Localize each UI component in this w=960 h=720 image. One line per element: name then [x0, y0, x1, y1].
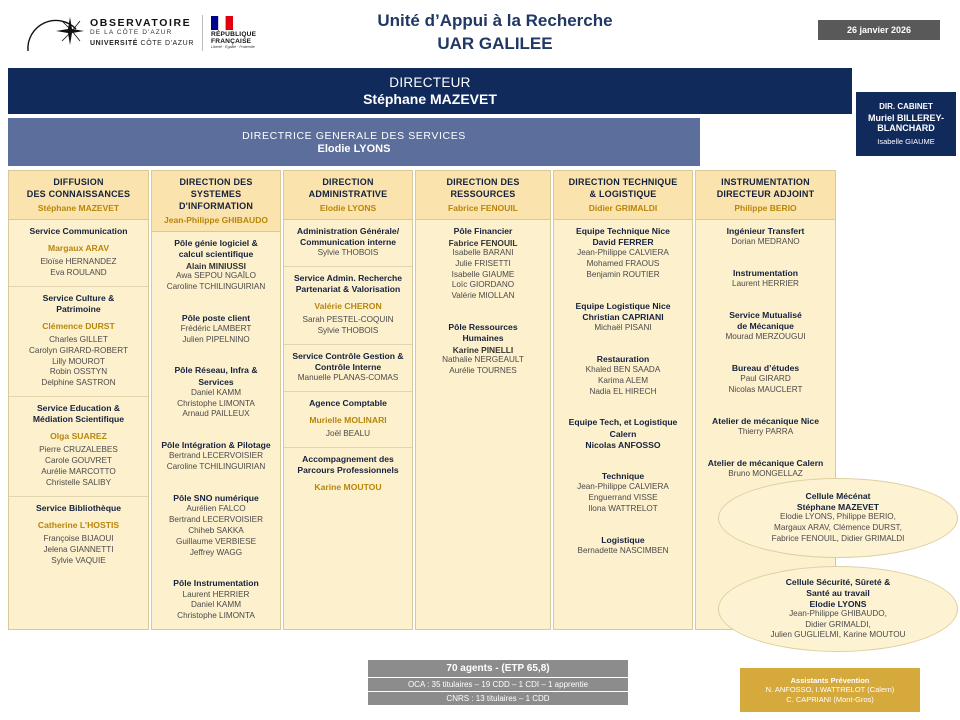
member-name: Charles GILLET — [12, 335, 145, 346]
group-spacer — [152, 427, 280, 434]
title-line: & LOGISTIQUE — [557, 189, 689, 201]
group-title-line: Equipe Technique Nice — [557, 226, 689, 237]
member-name: Enguerrand VISSE — [557, 493, 689, 504]
org-column-4: DIRECTION DESRESSOURCESFabrice FENOUILPô… — [415, 170, 551, 630]
service-group: Equipe Logistique NiceChristian CAPRIANI… — [554, 295, 692, 341]
service-group: Service Contrôle Gestion &Contrôle Inter… — [284, 345, 412, 392]
group-members: Daniel KAMMChristophe LIMONTAArnaud PAIL… — [155, 388, 277, 420]
service-group: Service BibliothèqueCatherine L’HOSTISFr… — [9, 497, 148, 574]
group-members: Dorian MEDRANO — [699, 237, 832, 248]
column-header: INSTRUMENTATIONDIRECTEUR ADJOINTPhilippe… — [696, 171, 835, 220]
page-title: Unité d’Appui à la Recherche UAR GALILEE — [330, 10, 660, 56]
group-members: Paul GIRARDNicolas MAUCLERT — [699, 374, 832, 396]
column-lead: Fabrice FENOUIL — [419, 203, 547, 213]
group-members: Nathalie NERGEAULTAurélie TOURNES — [419, 355, 547, 377]
column-lead: Elodie LYONS — [287, 203, 409, 213]
group-lead: Karine MOUTOU — [287, 482, 409, 492]
member-name: Christophe LIMONTA — [155, 611, 277, 622]
group-lead: Clémence DURST — [12, 321, 145, 331]
group-title: Equipe Logistique NiceChristian CAPRIANI — [557, 301, 689, 323]
group-lead: Margaux ARAV — [12, 243, 145, 253]
group-title-line: Equipe Logistique Nice — [557, 301, 689, 312]
org-column-2: DIRECTION DESSYSTEMESD'INFORMATIONJean-P… — [151, 170, 281, 630]
column-title: DIRECTION TECHNIQUE& LOGISTIQUE — [557, 177, 689, 201]
member-name: Sylvie VAQUIE — [12, 556, 145, 567]
cell-members: Elodie LYONS, Philippe BERIO,Margaux ARA… — [772, 512, 905, 545]
group-title-line: de Mécanique — [699, 321, 832, 332]
column-header: DIRECTIONADMINISTRATIVEElodie LYONS — [284, 171, 412, 220]
group-members: Bertrand LECERVOISIERCaroline TCHILINGUI… — [155, 451, 277, 473]
group-title-line: Equipe Tech, et Logistique — [557, 417, 689, 428]
column-header: DIRECTION TECHNIQUE& LOGISTIQUEDidier GR… — [554, 171, 692, 220]
group-title: Accompagnement desParcours Professionnel… — [287, 454, 409, 476]
member-name: Jean-Philippe CALVIERA — [557, 248, 689, 259]
column-title: DIFFUSIONDES CONNAISSANCES — [12, 177, 145, 201]
group-spacer — [152, 300, 280, 307]
cabinet-member: Isabelle GIAUME — [877, 137, 935, 146]
group-title-line: Restauration — [557, 354, 689, 365]
member-name: Christophe LIMONTA — [155, 399, 277, 410]
cell-lead: Stéphane MAZEVET — [797, 502, 879, 512]
group-title: Administration Générale/Communication in… — [287, 226, 409, 248]
service-group: InstrumentationLaurent HERRIER — [696, 262, 835, 297]
member-name: Frédéric LAMBERT — [155, 324, 277, 335]
member-name: Pierre CRUZALEBES — [12, 445, 145, 456]
group-title: Service Admin. RecherchePartenariat & Va… — [287, 273, 409, 295]
group-members: Françoise BIJAOUIJelena GIANNETTISylvie … — [12, 534, 145, 566]
group-title: Service Communication — [12, 226, 145, 237]
title-line: SYSTEMES — [155, 189, 277, 201]
group-title-line: Service Admin. Recherche — [287, 273, 409, 284]
cabinet-name: Muriel BILLEREY-BLANCHARD — [856, 113, 956, 135]
group-title-line: David FERRER — [557, 237, 689, 248]
group-members: Frédéric LAMBERTJulien PIPELNINO — [155, 324, 277, 346]
group-lead: Fabrice FENOUIL — [419, 238, 547, 248]
group-spacer — [152, 352, 280, 359]
service-group: Pôle SNO numériqueAurélien FALCOBertrand… — [152, 487, 280, 565]
column-header: DIRECTION DESSYSTEMESD'INFORMATIONJean-P… — [152, 171, 280, 232]
group-title-line: Service Communication — [12, 226, 145, 237]
group-title-line: Médiation Scientifique — [12, 414, 145, 425]
group-title-line: Pôle Instrumentation — [155, 578, 277, 589]
group-title-line: Agence Comptable — [287, 398, 409, 409]
org-column-3: DIRECTIONADMINISTRATIVEElodie LYONSAdmin… — [283, 170, 413, 630]
group-title-line: calcul scientifique — [155, 249, 277, 260]
republique-francaise-logo: RÉPUBLIQUE FRANÇAISE Liberté · Égalité ·… — [211, 16, 256, 50]
group-title-line: Parcours Professionnels — [287, 465, 409, 476]
dgs-name: Elodie LYONS — [318, 143, 391, 155]
group-members: Michaël PISANI — [557, 323, 689, 334]
title-line: ADMINISTRATIVE — [287, 189, 409, 201]
oca-breakdown: OCA : 35 titulaires – 19 CDD – 1 CDI – 1… — [368, 677, 628, 691]
group-members: Pierre CRUZALEBESCarole GOUVRETAurélie M… — [12, 445, 145, 488]
group-title-line: Nicolas ANFOSSO — [557, 440, 689, 451]
group-title-line: Communication interne — [287, 237, 409, 248]
member-name: Sylvie THOBOIS — [287, 248, 409, 259]
dgs-role: DIRECTRICE GENERALE DES SERVICES — [242, 130, 466, 142]
member-name: Valérie MIOLLAN — [419, 291, 547, 302]
prevention-title: Assistants Prévention — [791, 676, 870, 685]
member-name: Michaël PISANI — [557, 323, 689, 334]
logo-subtitle: DE LA CÔTE D'AZUR — [90, 30, 194, 37]
member-name: Nathalie NERGEAULT — [419, 355, 547, 366]
member-line: Margaux ARAV, Clémence DURST, — [772, 523, 905, 534]
group-lead: Olga SUAREZ — [12, 431, 145, 441]
column-title: DIRECTION DESSYSTEMESD'INFORMATION — [155, 177, 277, 213]
group-title-line: Service Culture & — [12, 293, 145, 304]
group-title: Service Bibliothèque — [12, 503, 145, 514]
member-name: Isabelle BARANI — [419, 248, 547, 259]
prevention-line-1: N. ANFOSSO, I.WATTRELOT (Calern) — [766, 685, 895, 694]
column-title: DIRECTION DESRESSOURCES — [419, 177, 547, 201]
logo-wordmark: OBSERVATOIRE DE LA CÔTE D'AZUR UNIVERSIT… — [90, 18, 194, 47]
member-line: Jean-Philippe GHIBAUDO, — [771, 609, 906, 620]
group-title: Atelier de mécanique Calern — [699, 458, 832, 469]
group-title: Instrumentation — [699, 268, 832, 279]
group-title-line: Patrimoine — [12, 304, 145, 315]
group-title-line: Humaines — [419, 333, 547, 344]
service-group: Atelier de mécanique NiceThierry PARRA — [696, 410, 835, 445]
member-name: Julie FRISETTI — [419, 259, 547, 270]
title-line: DIRECTION TECHNIQUE — [557, 177, 689, 189]
group-title: Bureau d’études — [699, 363, 832, 374]
member-name: Aurélie MARCOTTO — [12, 467, 145, 478]
logo-divider — [202, 15, 203, 51]
member-name: Delphine SASTRON — [12, 378, 145, 389]
group-title: Equipe Technique NiceDavid FERRER — [557, 226, 689, 248]
member-name: Thierry PARRA — [699, 427, 832, 438]
service-group: Bureau d’étudesPaul GIRARDNicolas MAUCLE… — [696, 357, 835, 403]
group-title-line: Logistique — [557, 535, 689, 546]
group-title: Agence Comptable — [287, 398, 409, 409]
prevention-line-2: C. CAPRIANI (Mont-Gros) — [786, 695, 874, 704]
group-title: Service Education &Médiation Scientifiqu… — [12, 403, 145, 425]
member-name: Benjamin ROUTIER — [557, 270, 689, 281]
member-line: Fabrice FENOUIL, Didier GRIMALDI — [772, 534, 905, 545]
member-name: Christelle SALIBY — [12, 478, 145, 489]
group-lead: Alain MINIUSSI — [155, 261, 277, 271]
member-name: Carole GOUVRET — [12, 456, 145, 467]
cnrs-breakdown: CNRS : 13 titulaires – 1 CDD — [368, 691, 628, 705]
title-line: DIRECTION DES — [419, 177, 547, 189]
prevention-assistants-box: Assistants Prévention N. ANFOSSO, I.WATT… — [740, 668, 920, 712]
member-name: Laurent HERRIER — [699, 279, 832, 290]
group-members: Jean-Philippe CALVIERAMohamed FRAOUSBenj… — [557, 248, 689, 280]
title-line: RESSOURCES — [419, 189, 547, 201]
column-lead: Stéphane MAZEVET — [12, 203, 145, 213]
group-spacer — [152, 565, 280, 572]
member-name: Manuelle PLANAS-COMAS — [287, 373, 409, 384]
group-spacer — [554, 404, 692, 411]
group-title-line: Pôle SNO numérique — [155, 493, 277, 504]
group-spacer — [554, 341, 692, 348]
column-lead: Didier GRIMALDI — [557, 203, 689, 213]
cell-title-line: Santé au travail — [786, 588, 891, 599]
title-line: DIRECTEUR ADJOINT — [699, 189, 832, 201]
service-group: Agence ComptableMurielle MOLINARIJoël BE… — [284, 392, 412, 448]
logo-observatoire: OBSERVATOIRE — [90, 18, 194, 29]
member-name: Eloïse HERNANDEZ — [12, 257, 145, 268]
cabinet-director-box: DIR. CABINET Muriel BILLEREY-BLANCHARD I… — [856, 92, 956, 156]
service-group: Service Mutualiséde MécaniqueMourad MERZ… — [696, 304, 835, 350]
group-title-line: Pôle poste client — [155, 313, 277, 324]
service-group: Service Education &Médiation Scientifiqu… — [9, 397, 148, 497]
group-title-line: Service Contrôle Gestion & — [287, 351, 409, 362]
member-name: Aurélien FALCO — [155, 504, 277, 515]
column-title: INSTRUMENTATIONDIRECTEUR ADJOINT — [699, 177, 832, 201]
member-name: Jean-Philippe CALVIERA — [557, 482, 689, 493]
group-title: Pôle Réseau, Infra &Services — [155, 365, 277, 387]
group-spacer — [696, 350, 835, 357]
group-spacer — [416, 309, 550, 316]
group-title-line: Christian CAPRIANI — [557, 312, 689, 323]
member-name: Paul GIRARD — [699, 374, 832, 385]
group-title-line: Contrôle Interne — [287, 362, 409, 373]
group-title: Pôle SNO numérique — [155, 493, 277, 504]
member-name: Françoise BIJAOUI — [12, 534, 145, 545]
member-name: Joël BEALU — [287, 429, 409, 440]
date-badge: 26 janvier 2026 — [818, 20, 940, 40]
group-title-line: Pôle Ressources — [419, 322, 547, 333]
group-members: Bernadette NASCIMBEN — [557, 546, 689, 557]
service-group: Administration Générale/Communication in… — [284, 220, 412, 267]
cell-title: Cellule Sécurité, Sûreté &Santé au trava… — [786, 577, 891, 599]
agents-total: 70 agents - (ETP 65,8) — [368, 660, 628, 677]
group-title-line: Pôle Financier — [419, 226, 547, 237]
group-spacer — [696, 403, 835, 410]
group-title: Restauration — [557, 354, 689, 365]
cell-members: Jean-Philippe GHIBAUDO,Didier GRIMALDI,J… — [771, 609, 906, 642]
title-line: DIRECTION — [287, 177, 409, 189]
member-name: Jelena GIANNETTI — [12, 545, 145, 556]
member-name: Daniel KAMM — [155, 600, 277, 611]
org-column-5: DIRECTION TECHNIQUE& LOGISTIQUEDidier GR… — [553, 170, 693, 630]
cell-title-line: Cellule Sécurité, Sûreté & — [786, 577, 891, 588]
member-name: Aurélie TOURNES — [419, 366, 547, 377]
group-members: Eloïse HERNANDEZEva ROULAND — [12, 257, 145, 279]
group-title: Pôle Instrumentation — [155, 578, 277, 589]
org-column-1: DIFFUSIONDES CONNAISSANCESStéphane MAZEV… — [8, 170, 149, 630]
column-title: DIRECTIONADMINISTRATIVE — [287, 177, 409, 201]
group-title: Pôle Financier — [419, 226, 547, 237]
group-spacer — [696, 297, 835, 304]
title-line: DIFFUSION — [12, 177, 145, 189]
title-line: D'INFORMATION — [155, 201, 277, 213]
service-group: Pôle InstrumentationLaurent HERRIERDanie… — [152, 572, 280, 629]
service-group: TechniqueJean-Philippe CALVIERAEnguerran… — [554, 465, 692, 522]
group-title-line: Accompagnement des — [287, 454, 409, 465]
group-title: Equipe Tech, et LogistiqueCalernNicolas … — [557, 417, 689, 451]
group-members: Laurent HERRIERDaniel KAMMChristophe LIM… — [155, 590, 277, 622]
service-group: Service Culture &PatrimoineClémence DURS… — [9, 287, 148, 397]
member-name: Caroline TCHILINGUIRIAN — [155, 282, 277, 293]
logo-university: UNIVERSITÉ CÔTE D'AZUR — [90, 40, 194, 47]
group-spacer — [696, 255, 835, 262]
service-group: Ingénieur TransfertDorian MEDRANO — [696, 220, 835, 255]
member-name: Bernadette NASCIMBEN — [557, 546, 689, 557]
group-title-line: Service Bibliothèque — [12, 503, 145, 514]
service-group: Pôle poste clientFrédéric LAMBERTJulien … — [152, 307, 280, 353]
column-lead: Philippe BERIO — [699, 203, 832, 213]
service-group: Accompagnement desParcours Professionnel… — [284, 448, 412, 503]
group-title: Service Mutualiséde Mécanique — [699, 310, 832, 332]
group-title-line: Partenariat & Valorisation — [287, 284, 409, 295]
cell-title-line: Cellule Mécénat — [806, 491, 871, 502]
title-line: DIRECTION DES — [155, 177, 277, 189]
rf-motto: Liberté · Égalité · Fraternité — [211, 46, 256, 50]
group-title-line: Administration Générale/ — [287, 226, 409, 237]
group-title-line: Ingénieur Transfert — [699, 226, 832, 237]
group-title-line: Technique — [557, 471, 689, 482]
group-spacer — [554, 522, 692, 529]
group-title: Service Culture &Patrimoine — [12, 293, 145, 315]
group-title-line: Pôle Réseau, Infra & — [155, 365, 277, 376]
group-title-line: Bureau d’études — [699, 363, 832, 374]
member-name: Robin OSSTYN — [12, 367, 145, 378]
group-members: Khaled BEN SAADAKarima ALEMNadia EL HIRE… — [557, 365, 689, 397]
group-members: Thierry PARRA — [699, 427, 832, 438]
group-spacer — [152, 480, 280, 487]
service-group: Pôle FinancierFabrice FENOUILIsabelle BA… — [416, 220, 550, 309]
group-title: Pôle Intégration & Pilotage — [155, 440, 277, 451]
group-title-line: Atelier de mécanique Nice — [699, 416, 832, 427]
group-title-line: Pôle génie logiciel & — [155, 238, 277, 249]
title-line-1: Unité d’Appui à la Recherche — [330, 10, 660, 33]
member-line: Julien GUGLIELMI, Karine MOUTOU — [771, 630, 906, 641]
group-lead: Karine PINELLI — [419, 345, 547, 355]
member-name: Khaled BEN SAADA — [557, 365, 689, 376]
french-flag-icon — [211, 16, 233, 30]
group-title-line: Service Mutualisé — [699, 310, 832, 321]
group-title: Pôle poste client — [155, 313, 277, 324]
member-name: Loïc GIORDANO — [419, 280, 547, 291]
group-members: Laurent HERRIER — [699, 279, 832, 290]
group-members: Jean-Philippe CALVIERAEnguerrand VISSEIl… — [557, 482, 689, 514]
member-name: Guillaume VERBIESE — [155, 537, 277, 548]
member-name: Arnaud PAILLEUX — [155, 409, 277, 420]
group-title: Ingénieur Transfert — [699, 226, 832, 237]
group-title: Pôle génie logiciel &calcul scientifique — [155, 238, 277, 260]
member-name: Julien PIPELNINO — [155, 335, 277, 346]
member-name: Bertrand LECERVOISIER — [155, 515, 277, 526]
member-line: Elodie LYONS, Philippe BERIO, — [772, 512, 905, 523]
member-name: Jeffrey WAGG — [155, 548, 277, 559]
group-title: Service Contrôle Gestion &Contrôle Inter… — [287, 351, 409, 373]
member-name: Sarah PESTEL-COQUIN — [287, 315, 409, 326]
cell-title: Cellule Mécénat — [806, 491, 871, 502]
member-name: Laurent HERRIER — [155, 590, 277, 601]
group-title-line: Pôle Intégration & Pilotage — [155, 440, 277, 451]
service-group: Equipe Tech, et LogistiqueCalernNicolas … — [554, 411, 692, 458]
dgs-box: DIRECTRICE GENERALE DES SERVICES Elodie … — [8, 118, 700, 166]
member-name: Lilly MOUROT — [12, 357, 145, 368]
member-name: Dorian MEDRANO — [699, 237, 832, 248]
column-header: DIRECTION DESRESSOURCESFabrice FENOUIL — [416, 171, 550, 220]
group-members: Sylvie THOBOIS — [287, 248, 409, 259]
page-header: OBSERVATOIRE DE LA CÔTE D'AZUR UNIVERSIT… — [0, 0, 960, 62]
group-title-line: Service Education & — [12, 403, 145, 414]
service-group: Service Admin. RecherchePartenariat & Va… — [284, 267, 412, 345]
group-title: Logistique — [557, 535, 689, 546]
member-name: Awa SEPOU NGAÏLO — [155, 271, 277, 282]
cell-securite: Cellule Sécurité, Sûreté &Santé au trava… — [718, 566, 958, 652]
service-group: Pôle RessourcesHumainesKarine PINELLINat… — [416, 316, 550, 384]
member-name: Isabelle GIAUME — [419, 270, 547, 281]
title-line: INSTRUMENTATION — [699, 177, 832, 189]
org-columns: DIFFUSIONDES CONNAISSANCESStéphane MAZEV… — [8, 170, 844, 630]
org-column-6: INSTRUMENTATIONDIRECTEUR ADJOINTPhilippe… — [695, 170, 836, 630]
cell-lead: Elodie LYONS — [810, 599, 867, 609]
observatory-star-icon — [26, 13, 88, 53]
service-group: Equipe Technique NiceDavid FERRERJean-Ph… — [554, 220, 692, 288]
member-name: Daniel KAMM — [155, 388, 277, 399]
member-name: Ilona WATTRELOT — [557, 504, 689, 515]
group-title-line: Atelier de mécanique Calern — [699, 458, 832, 469]
service-group: Pôle génie logiciel &calcul scientifique… — [152, 232, 280, 300]
member-name: Sylvie THOBOIS — [287, 326, 409, 337]
group-members: Aurélien FALCOBertrand LECERVOISIERChihe… — [155, 504, 277, 558]
group-members: Manuelle PLANAS-COMAS — [287, 373, 409, 384]
group-spacer — [554, 288, 692, 295]
service-group: LogistiqueBernadette NASCIMBEN — [554, 529, 692, 564]
service-group: Service CommunicationMargaux ARAVEloïse … — [9, 220, 148, 287]
group-title: Pôle RessourcesHumaines — [419, 322, 547, 344]
column-header: DIFFUSIONDES CONNAISSANCESStéphane MAZEV… — [9, 171, 148, 220]
title-line-2: UAR GALILEE — [330, 33, 660, 56]
group-members: Joël BEALU — [287, 429, 409, 440]
member-name: Nicolas MAUCLERT — [699, 385, 832, 396]
member-name: Karima ALEM — [557, 376, 689, 387]
group-title: Atelier de mécanique Nice — [699, 416, 832, 427]
group-title: Technique — [557, 471, 689, 482]
group-lead: Murielle MOLINARI — [287, 415, 409, 425]
service-group: RestaurationKhaled BEN SAADAKarima ALEMN… — [554, 348, 692, 405]
member-name: Mohamed FRAOUS — [557, 259, 689, 270]
director-role: DIRECTEUR — [389, 75, 470, 90]
group-title-line: Services — [155, 377, 277, 388]
member-name: Eva ROULAND — [12, 268, 145, 279]
service-group: Pôle Intégration & PilotageBertrand LECE… — [152, 434, 280, 480]
group-spacer — [554, 458, 692, 465]
staff-statistics: 70 agents - (ETP 65,8) OCA : 35 titulair… — [368, 660, 628, 705]
cabinet-role: DIR. CABINET — [879, 102, 933, 112]
group-lead: Valérie CHERON — [287, 301, 409, 311]
group-title-line: Instrumentation — [699, 268, 832, 279]
member-name: Chiheb SAKKA — [155, 526, 277, 537]
title-line: DES CONNAISSANCES — [12, 189, 145, 201]
cell-mecenat: Cellule MécénatStéphane MAZEVETElodie LY… — [718, 478, 958, 558]
institution-logo: OBSERVATOIRE DE LA CÔTE D'AZUR UNIVERSIT… — [26, 12, 276, 54]
member-name: Caroline TCHILINGUIRIAN — [155, 462, 277, 473]
director-name: Stéphane MAZEVET — [363, 91, 497, 107]
member-name: Nadia EL HIRECH — [557, 387, 689, 398]
group-members: Charles GILLETCarolyn GIRARD-ROBERTLilly… — [12, 335, 145, 389]
group-spacer — [696, 445, 835, 452]
group-lead: Catherine L’HOSTIS — [12, 520, 145, 530]
column-lead: Jean-Philippe GHIBAUDO — [155, 215, 277, 225]
member-line: Didier GRIMALDI, — [771, 620, 906, 631]
group-members: Mourad MERZOUGUI — [699, 332, 832, 343]
service-group: Pôle Réseau, Infra &ServicesDaniel KAMMC… — [152, 359, 280, 427]
group-members: Sarah PESTEL-COQUINSylvie THOBOIS — [287, 315, 409, 337]
group-members: Isabelle BARANIJulie FRISETTIIsabelle GI… — [419, 248, 547, 302]
member-name: Mourad MERZOUGUI — [699, 332, 832, 343]
member-name: Carolyn GIRARD-ROBERT — [12, 346, 145, 357]
group-members: Awa SEPOU NGAÏLOCaroline TCHILINGUIRIAN — [155, 271, 277, 293]
group-title-line: Calern — [557, 429, 689, 440]
director-box: DIRECTEUR Stéphane MAZEVET — [8, 68, 852, 114]
member-name: Bertrand LECERVOISIER — [155, 451, 277, 462]
